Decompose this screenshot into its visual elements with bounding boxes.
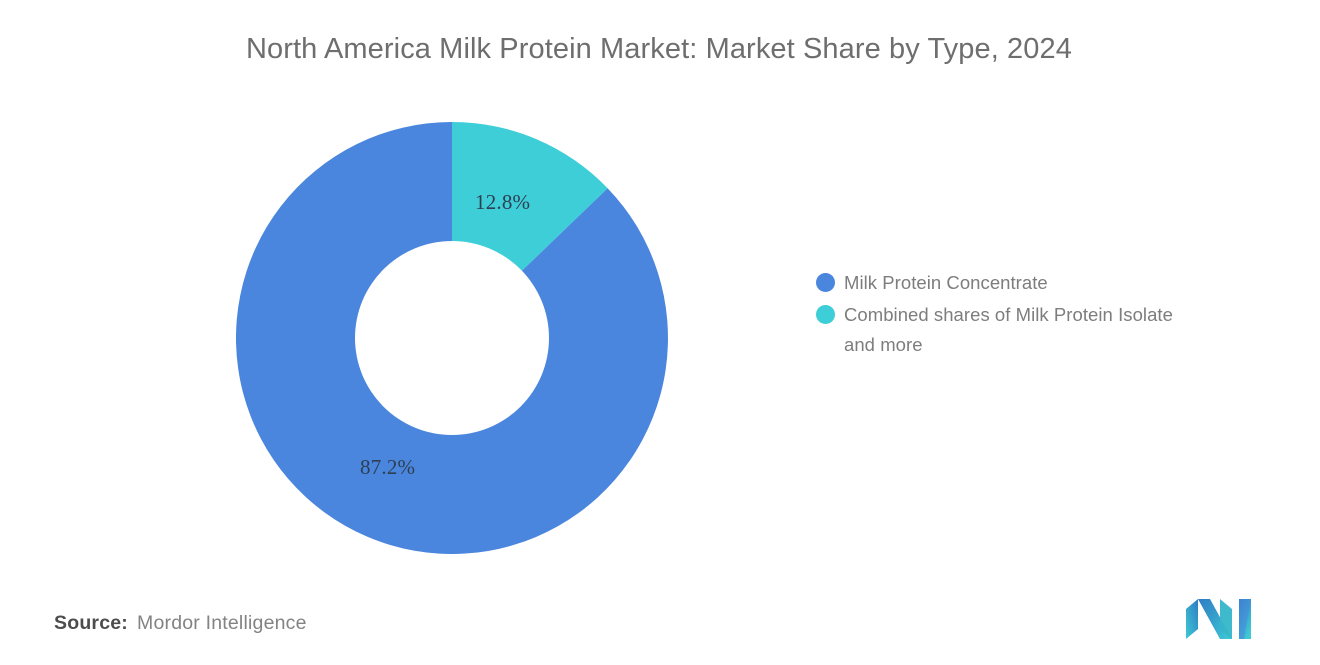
- donut-slice-label-milk-protein-concentrate: 87.2%: [360, 455, 415, 480]
- legend-item-label: Combined shares of Milk Protein Isolate …: [844, 300, 1206, 360]
- mordor-intelligence-logo-icon: [1184, 597, 1258, 639]
- legend-item-combined-shares[interactable]: Combined shares of Milk Protein Isolate …: [816, 300, 1206, 360]
- chart-legend: Milk Protein Concentrate Combined shares…: [816, 268, 1206, 362]
- legend-item-milk-protein-concentrate[interactable]: Milk Protein Concentrate: [816, 268, 1206, 298]
- legend-color-swatch-icon: [816, 305, 835, 324]
- chart-canvas: North America Milk Protein Market: Marke…: [0, 0, 1320, 665]
- source-value: Mordor Intelligence: [137, 612, 307, 635]
- donut-slice-label-combined-shares: 12.8%: [475, 190, 530, 215]
- donut-chart: 87.2% 12.8%: [236, 122, 668, 554]
- legend-color-swatch-icon: [816, 273, 835, 292]
- legend-item-label: Milk Protein Concentrate: [844, 268, 1048, 298]
- donut-chart-svg: [236, 122, 668, 554]
- source-line: Source: Mordor Intelligence: [54, 612, 307, 635]
- source-label: Source:: [54, 612, 128, 635]
- chart-title: North America Milk Protein Market: Marke…: [246, 31, 1146, 67]
- donut-hole: [355, 241, 549, 435]
